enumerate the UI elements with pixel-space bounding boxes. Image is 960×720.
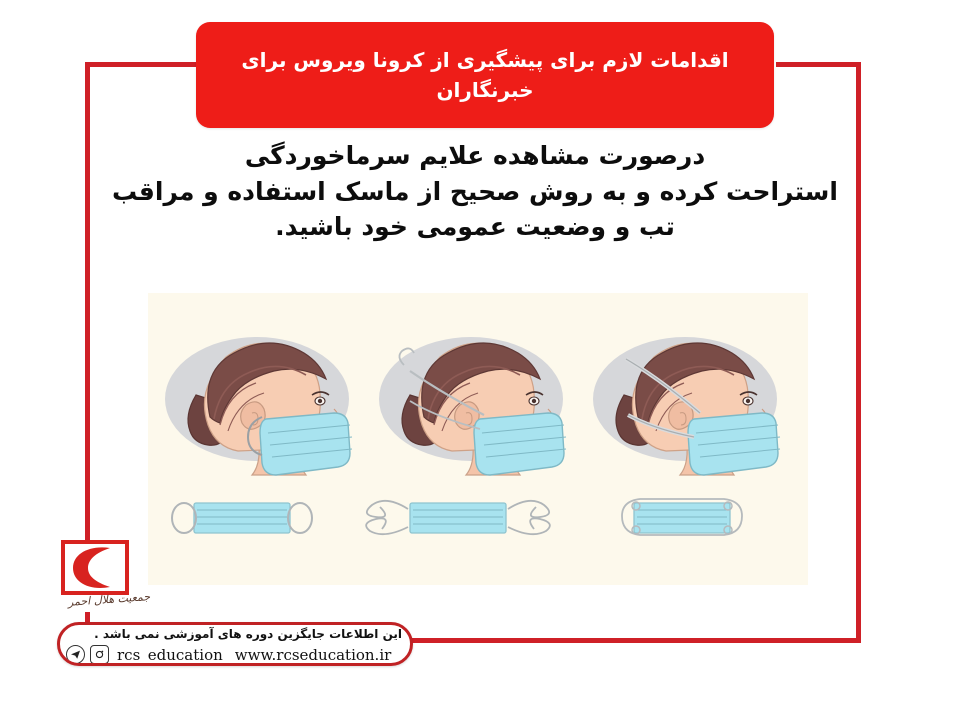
instagram-icon[interactable] [90,645,109,664]
crescent-icon [61,540,129,595]
headline-line-3: تب و وضعیت عمومی خود باشید. [110,209,840,245]
poster-canvas: اقدامات لازم برای پیشگیری از کرونا ویروس… [0,0,960,720]
footer-disclaimer: این اطلاعات جایگزین دوره های آموزشی نمی … [94,627,402,641]
footer-social-row: rcs_education www.rcseducation.ir [66,645,391,664]
title-banner: اقدامات لازم برای پیشگیری از کرونا ویروس… [196,22,774,128]
mask-illustration [148,293,808,585]
headline-line-2: استراحت کرده و به روش صحیح از ماسک استفا… [110,174,840,210]
headline-line-1: درصورت مشاهده علایم سرماخوردگی [110,138,840,174]
footer-handle[interactable]: rcs_education [117,646,223,664]
footer-url[interactable]: www.rcseducation.ir [235,646,392,664]
red-crescent-logo: جمعیت هلال احمر [57,537,165,625]
headline-block: درصورت مشاهده علایم سرماخوردگی استراحت ک… [110,138,840,245]
title-text: اقدامات لازم برای پیشگیری از کرونا ویروس… [196,45,774,105]
telegram-icon[interactable] [66,645,85,664]
footer-contact-box: این اطلاعات جایگزین دوره های آموزشی نمی … [57,622,413,666]
